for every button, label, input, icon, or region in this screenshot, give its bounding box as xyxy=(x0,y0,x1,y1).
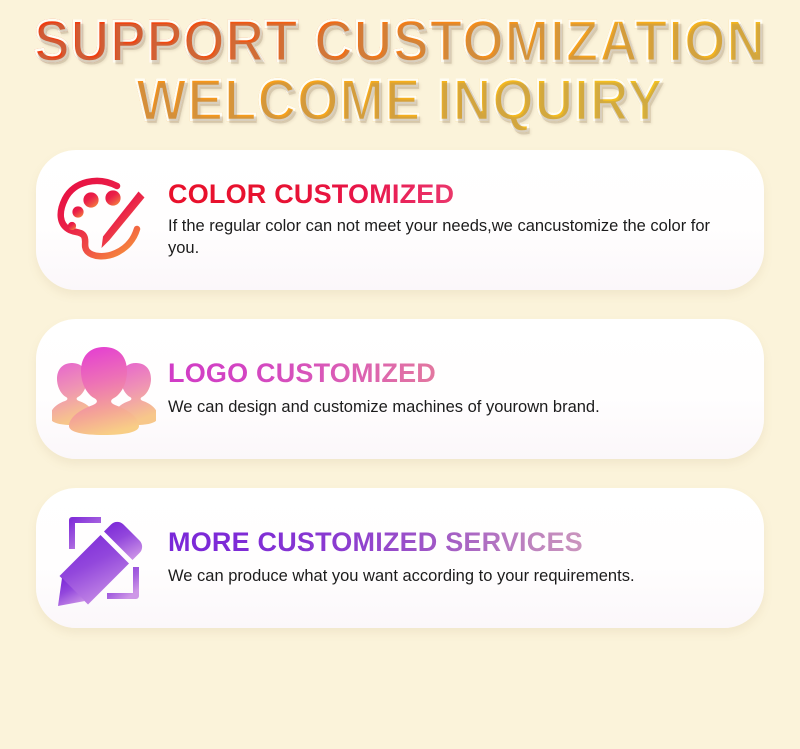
feature-card-services-body: MORE CUSTOMIZED SERVICES We can produce … xyxy=(168,528,764,588)
headline-line-2-text: WELCOME INQUIRY xyxy=(136,68,664,133)
feature-card-logo-title: LOGO CUSTOMIZED xyxy=(168,359,738,388)
feature-card-logo-body: LOGO CUSTOMIZED We can design and custom… xyxy=(168,359,764,419)
headline-line-1: SUPPORT CUSTOMIZATION xyxy=(32,14,768,71)
headline-line-1-text: SUPPORT CUSTOMIZATION xyxy=(34,9,766,74)
pencil-ruler-icon xyxy=(36,510,172,606)
page-header: SUPPORT CUSTOMIZATION WELCOME INQUIRY xyxy=(0,0,800,130)
feature-card-list: COLOR CUSTOMIZED If the regular color ca… xyxy=(0,150,800,628)
headline-line-2: WELCOME INQUIRY xyxy=(32,73,768,130)
feature-card-color[interactable]: COLOR CUSTOMIZED If the regular color ca… xyxy=(36,150,764,290)
paint-palette-icon xyxy=(36,174,172,266)
feature-card-logo-description: We can design and customize machines of … xyxy=(168,397,738,419)
feature-card-color-title: COLOR CUSTOMIZED xyxy=(168,180,738,209)
feature-card-services-description: We can produce what you want according t… xyxy=(168,566,738,588)
feature-card-services-title: MORE CUSTOMIZED SERVICES xyxy=(168,528,738,557)
feature-card-services[interactable]: MORE CUSTOMIZED SERVICES We can produce … xyxy=(36,488,764,628)
people-group-icon xyxy=(36,343,172,435)
feature-card-color-body: COLOR CUSTOMIZED If the regular color ca… xyxy=(168,180,764,260)
feature-card-logo[interactable]: LOGO CUSTOMIZED We can design and custom… xyxy=(36,319,764,459)
feature-card-color-description: If the regular color can not meet your n… xyxy=(168,216,738,260)
